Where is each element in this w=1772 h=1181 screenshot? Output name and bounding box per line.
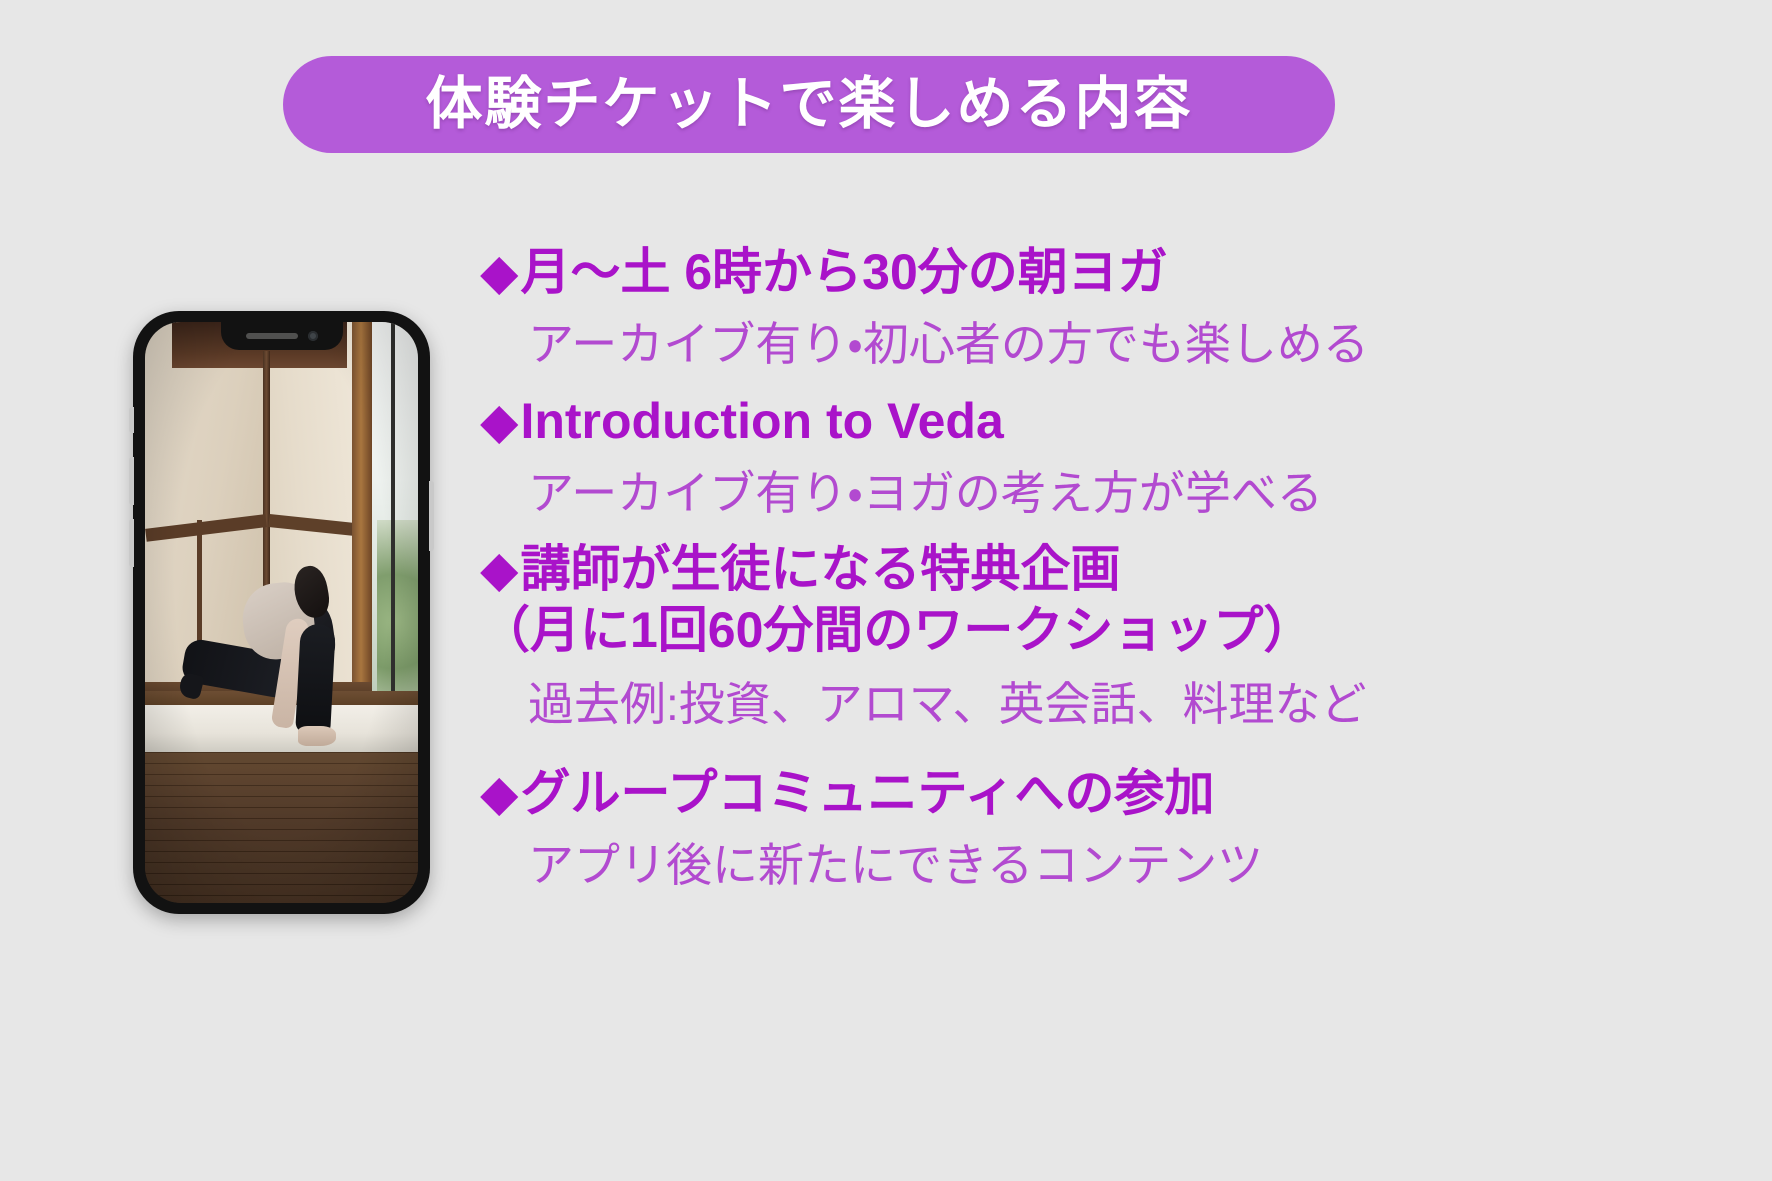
- benefit-item-4: ◆ グループコミュニティへの参加 アプリ後に新たにできるコンテンツ: [480, 764, 1750, 895]
- benefit-headline-4-text: グループコミュニティへの参加: [520, 764, 1214, 823]
- slide-root: 体験チケットで楽しめる内容: [0, 0, 1772, 1181]
- benefit-subline-4: アプリ後に新たにできるコンテンツ: [480, 837, 1750, 895]
- phone-mockup: [133, 311, 430, 914]
- benefits-list: ◆ 月〜土 6時から30分の朝ヨガ アーカイブ有り・初心者の方でも楽しめる ◆ …: [480, 243, 1750, 894]
- benefit-subline-1: アーカイブ有り・初心者の方でも楽しめる: [480, 316, 1750, 374]
- benefit-item-2: ◆ Introduction to Veda アーカイブ有り・ヨガの考え方が学べ…: [480, 392, 1750, 523]
- benefit-headline-3: ◆ 講師が生徒になる特典企画: [480, 540, 1750, 599]
- volume-down-button[interactable]: [129, 519, 134, 567]
- benefit-headline-1-text: 月〜土 6時から30分の朝ヨガ: [520, 243, 1167, 302]
- diamond-bullet-icon: ◆: [480, 544, 518, 594]
- diamond-bullet-icon: ◆: [480, 247, 518, 297]
- mute-switch[interactable]: [129, 407, 134, 433]
- benefit-headline-4: ◆ グループコミュニティへの参加: [480, 764, 1750, 823]
- benefit-headline-1: ◆ 月〜土 6時から30分の朝ヨガ: [480, 243, 1750, 302]
- title-banner: 体験チケットで楽しめる内容: [283, 56, 1335, 153]
- benefit-subline-3: 過去例:投資、アロマ、英会話、料理など: [480, 676, 1750, 734]
- page-title: 体験チケットで楽しめる内容: [426, 76, 1193, 133]
- front-camera-icon: [308, 331, 318, 341]
- benefit-item-3: ◆ 講師が生徒になる特典企画 （月に1回60分間のワークショップ） 過去例:投資…: [480, 540, 1750, 734]
- power-button[interactable]: [429, 481, 434, 551]
- benefit-headline-2: ◆ Introduction to Veda: [480, 392, 1750, 451]
- diamond-bullet-icon: ◆: [480, 396, 518, 446]
- benefit-headline-3-second-line: （月に1回60分間のワークショップ）: [480, 601, 1750, 660]
- speaker-icon: [246, 333, 298, 339]
- phone-screen: [145, 322, 418, 903]
- benefit-headline-2-text: Introduction to Veda: [520, 392, 1003, 451]
- photo-vignette: [145, 322, 418, 903]
- benefit-item-1: ◆ 月〜土 6時から30分の朝ヨガ アーカイブ有り・初心者の方でも楽しめる: [480, 243, 1750, 374]
- phone-notch: [221, 322, 343, 350]
- volume-up-button[interactable]: [129, 457, 134, 505]
- diamond-bullet-icon: ◆: [480, 768, 518, 818]
- benefit-subline-2: アーカイブ有り・ヨガの考え方が学べる: [480, 465, 1750, 523]
- benefit-headline-3-text: 講師が生徒になる特典企画: [520, 540, 1120, 599]
